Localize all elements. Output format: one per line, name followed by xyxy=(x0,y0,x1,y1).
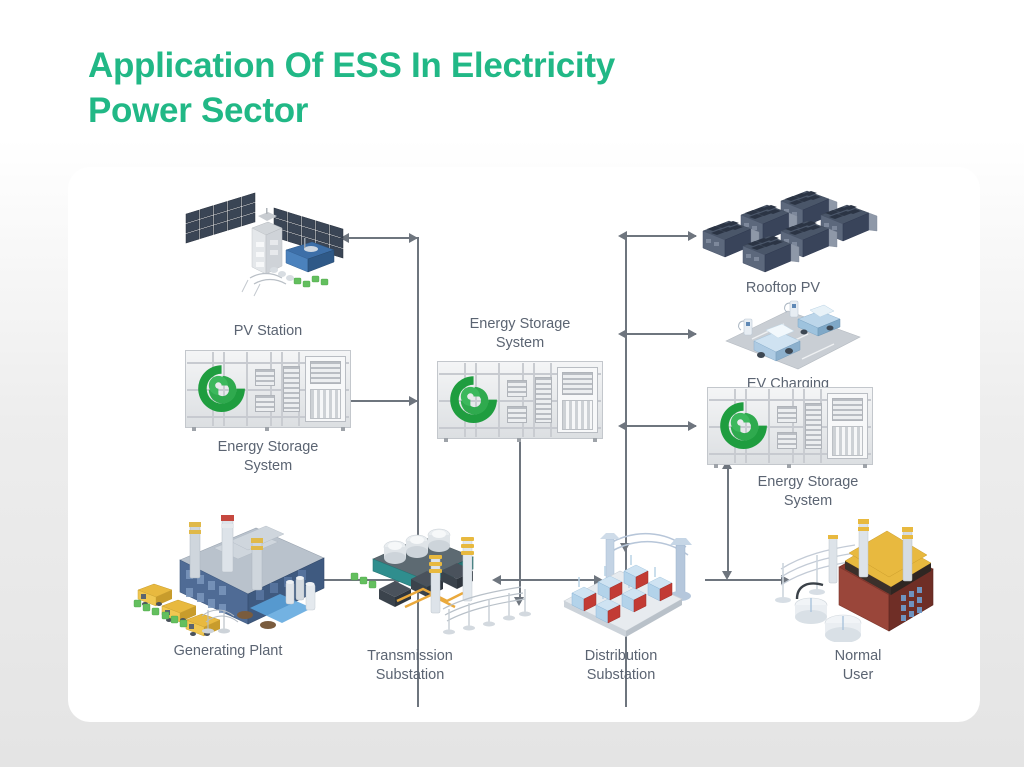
arrow-bus-to-pv-line xyxy=(348,237,418,239)
node-normal-user[interactable]: Normal User xyxy=(758,507,958,687)
node-ess-left[interactable]: Energy Storage System xyxy=(178,350,358,480)
node-label-transmission-substation: Transmission Substation xyxy=(320,647,500,685)
rooftop-solar-buildings-icon xyxy=(693,187,883,282)
node-distribution-substation[interactable]: Distribution Substation xyxy=(548,517,738,692)
page-title: Application Of ESS In Electricity Power … xyxy=(88,44,728,134)
arrow-bus-to-pv-head-right xyxy=(409,233,418,243)
ev-charging-station-icon xyxy=(718,297,868,375)
ess-spiral-logo-icon xyxy=(447,370,500,429)
ess-spiral-logo-icon xyxy=(195,359,248,418)
transmission-substation-icon xyxy=(345,517,535,642)
arrow-bus-to-ev-charging-line xyxy=(626,333,696,335)
ess-container-icon xyxy=(437,361,603,439)
factory-building-icon xyxy=(763,507,953,642)
node-label-ess-left: Energy Storage System xyxy=(178,438,358,476)
node-generating-plant[interactable]: Generating Plant xyxy=(123,512,343,682)
arrow-bus-to-ess-right-head-left xyxy=(618,421,627,431)
node-label-rooftop-pv: Rooftop PV xyxy=(693,279,873,298)
power-plant-icon xyxy=(128,512,338,637)
ess-container-icon xyxy=(185,350,351,428)
node-label-distribution-substation: Distribution Substation xyxy=(531,647,711,685)
diagram-card: PV Station Energy Storage System xyxy=(68,167,980,722)
node-ess-right[interactable]: Energy Storage System xyxy=(690,387,890,517)
node-pv-station[interactable]: PV Station xyxy=(178,192,358,332)
ess-spiral-logo-icon xyxy=(717,396,770,455)
arrow-bus-to-rooftop-pv-head-left xyxy=(618,231,627,241)
node-ess-middle[interactable]: Energy Storage System xyxy=(430,315,610,445)
arrow-bus-to-ev-charging-head-right xyxy=(688,329,697,339)
node-label-normal-user: Normal User xyxy=(768,647,948,685)
node-rooftop-pv[interactable]: Rooftop PV xyxy=(688,187,888,307)
node-label-pv-station: PV Station xyxy=(178,322,358,341)
arrow-bus-to-rooftop-pv-line xyxy=(626,235,696,237)
node-label-generating-plant: Generating Plant xyxy=(138,642,318,661)
arrow-bus-to-ess-left-head-right xyxy=(409,396,418,406)
ess-container-icon xyxy=(707,387,873,465)
node-label-ess-middle: Energy Storage System xyxy=(430,315,610,353)
node-transmission-substation[interactable]: Transmission Substation xyxy=(340,517,540,692)
arrow-bus-to-ess-left-line xyxy=(348,400,418,402)
arrow-bus-to-ev-charging-head-left xyxy=(618,329,627,339)
distribution-substation-icon xyxy=(558,517,728,642)
node-label-ess-right: Energy Storage System xyxy=(718,473,898,511)
solar-panel-array-icon xyxy=(178,192,358,302)
arrow-bus-to-ess-right-line xyxy=(626,425,696,427)
